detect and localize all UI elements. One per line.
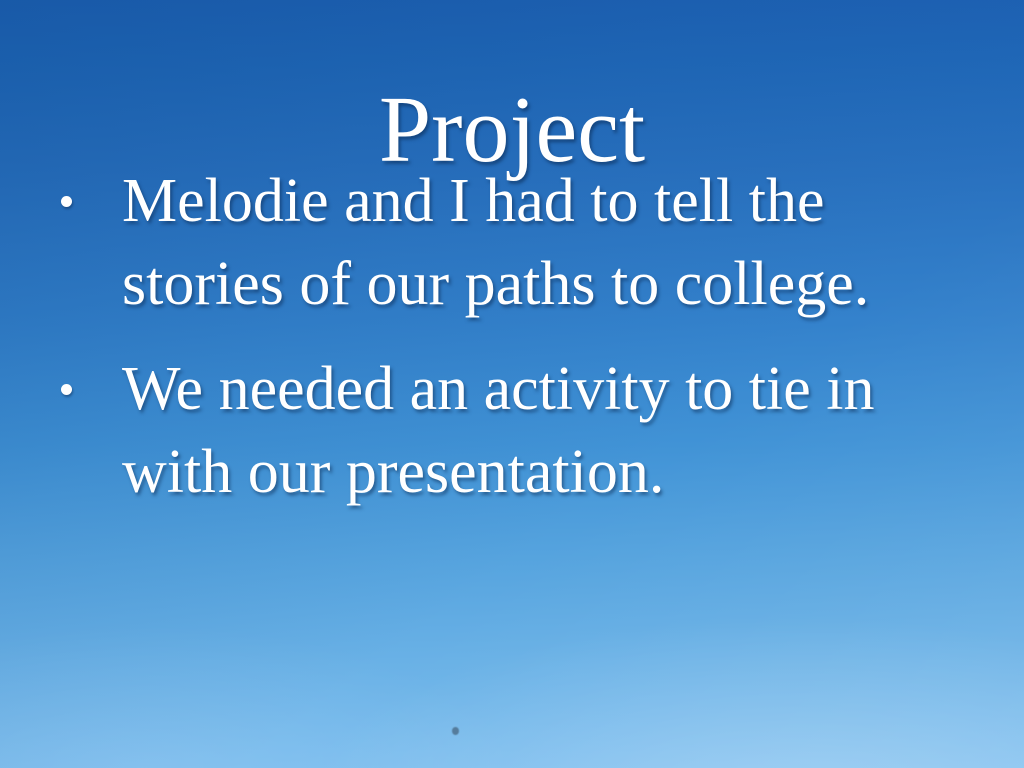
bullet-item-2-text: We needed an activity to tie in with our…	[122, 348, 944, 514]
bullet-dot-icon	[61, 384, 72, 395]
bullet-item-2: We needed an activity to tie in with our…	[44, 348, 944, 514]
bullet-item-1-text: Melodie and I had to tell the stories of…	[122, 160, 944, 326]
presentation-slide: Project Melodie and I had to tell the st…	[0, 0, 1024, 768]
bullet-dot-icon	[61, 196, 72, 207]
sky-speck	[452, 727, 459, 735]
bullet-list: Melodie and I had to tell the stories of…	[44, 160, 944, 514]
bullet-item-1: Melodie and I had to tell the stories of…	[44, 160, 944, 326]
